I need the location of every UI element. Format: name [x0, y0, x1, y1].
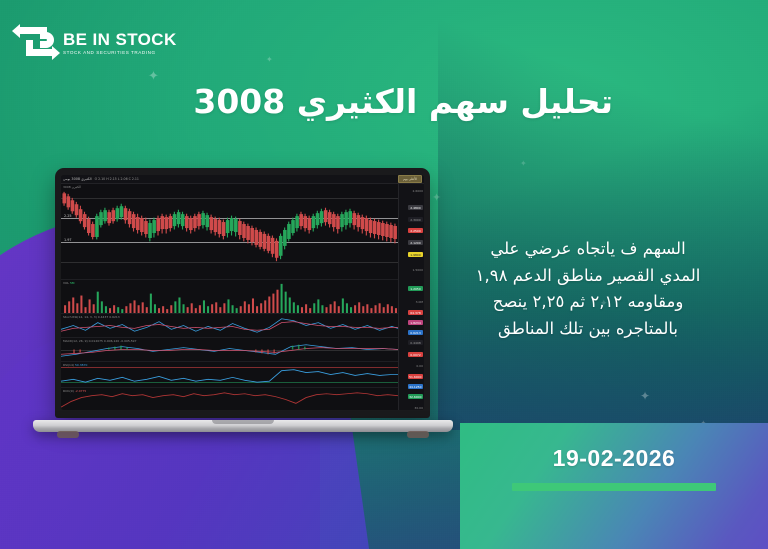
pane-price-label: الكثيري 3008 — [63, 185, 81, 189]
axis-tick: 1.5000 — [413, 268, 424, 272]
roc-series — [61, 388, 398, 410]
axis-tag: 2.4800 — [408, 205, 423, 210]
poster-canvas: ✦ ✦ ✦ ✦ ✦ ✦ ✦ BE IN STOCK STOCK AND SECU… — [0, 0, 768, 549]
description-line: المدي القصير مناطق الدعم ١,٩٨ — [438, 263, 738, 290]
analysis-description: السهم ف ياتجاه عرضي علي المدي القصير منا… — [438, 236, 738, 343]
pane-roc[interactable]: ROC(9) -2.0775 — [61, 388, 398, 410]
axis-tag-resistance: 2.2500 — [408, 228, 423, 233]
date-panel: 19-02-2026 — [460, 423, 768, 549]
brand-logo: BE IN STOCK STOCK AND SECURITIES TRADING — [20, 24, 177, 62]
pane-price[interactable]: الكثيري 3008 2.25 1.97 — [61, 184, 398, 280]
axis-tick: 0.00 — [416, 364, 423, 368]
axis-tick: 30.00 — [414, 406, 423, 410]
price-axis[interactable]: 2.6000 2.4800 2.3000 2.2500 2.1200 1.980… — [398, 184, 424, 410]
description-line: السهم ف ياتجاه عرضي علي — [438, 236, 738, 263]
date-underline-bar — [512, 483, 716, 491]
axis-tag-current: 1.9800 — [408, 252, 423, 257]
laptop-base — [33, 420, 453, 432]
pane-roc-label: ROC(9) -2.0775 — [63, 389, 86, 393]
pane-volume-label: VOL 5M — [63, 281, 75, 285]
axis-tag: 44.1250 — [408, 384, 423, 389]
pane-macd-label: MACD(12, 26, 9) 0.012075 0.006,120 -0.00… — [63, 339, 137, 343]
volume-histogram — [61, 280, 398, 313]
recycle-arrows-logo-icon — [20, 24, 54, 62]
date-text: 19-02-2026 — [460, 445, 768, 472]
chart-symbol-title: الكثيري 3008 يومي — [63, 177, 92, 181]
sparkle-icon: ✦ — [266, 56, 273, 64]
chart-header-button[interactable]: الأعلى يوم — [398, 175, 422, 183]
sparkle-icon: ✦ — [148, 70, 159, 83]
axis-tick: 3.0M — [416, 300, 423, 304]
pane-macd[interactable]: MACD(12, 26, 9) 0.012075 0.006,120 -0.00… — [61, 338, 398, 362]
laptop-screen: الكثيري 3008 يومي O 2.10 H 2.15 L 2.06 C… — [61, 175, 424, 410]
sparkle-icon: ✦ — [640, 390, 650, 402]
chart-body: الكثيري 3008 2.25 1.97 — [61, 184, 424, 410]
axis-tag: 1.8234 — [408, 320, 423, 325]
pane-rsi[interactable]: RSI(14) 50.3870 — [61, 362, 398, 388]
axis-tag: 2.3000 — [408, 217, 423, 222]
chart-header: الكثيري 3008 يومي O 2.10 H 2.15 L 2.06 C… — [61, 175, 424, 184]
description-line: بالمتاجره بين تلك المناطق — [438, 316, 738, 343]
description-line: ومقاومه ٢,١٢ ثم ٢,٢٥ ينصح — [438, 289, 738, 316]
pane-rsi-label: RSI(14) 50.3870 — [63, 363, 87, 367]
axis-tag: 0.6213 — [408, 330, 423, 335]
page-title: تحليل سهم الكثيري 3008 — [193, 82, 613, 121]
laptop-foot-right — [407, 431, 429, 438]
chart-ohlc-values: O 2.10 H 2.15 L 2.06 C 2.11 — [95, 177, 139, 181]
axis-tag: 1.2050 — [408, 286, 423, 291]
pane-stochastic-label: Stoch RSI(14, 14, 3, 3) 0.4437 0.6213 — [63, 315, 120, 319]
axis-tag: 0.0072 — [408, 352, 423, 357]
pane-volume[interactable]: VOL 5M — [61, 280, 398, 314]
axis-tag: 51.6000 — [408, 374, 423, 379]
laptop-mockup: الكثيري 3008 يومي O 2.10 H 2.15 L 2.06 C… — [33, 168, 453, 440]
axis-tick: 2.6000 — [413, 189, 424, 193]
brand-tagline: STOCK AND SECURITIES TRADING — [63, 50, 177, 55]
chart-panes: الكثيري 3008 2.25 1.97 — [61, 184, 398, 410]
axis-tag: 64.378 — [408, 310, 423, 315]
laptop-lid: الكثيري 3008 يومي O 2.10 H 2.15 L 2.06 C… — [55, 168, 430, 418]
axis-tag: 32.6000 — [408, 394, 423, 399]
axis-tag: 2.1200 — [408, 240, 423, 245]
trading-chart-app: الكثيري 3008 يومي O 2.10 H 2.15 L 2.06 C… — [61, 175, 424, 410]
rsi-series — [61, 362, 398, 387]
pane-stochastic[interactable]: Stoch RSI(14, 14, 3, 3) 0.4437 0.6213 — [61, 314, 398, 338]
axis-tag: 0.4498 — [408, 340, 423, 345]
laptop-foot-left — [57, 431, 79, 438]
candlestick-series — [61, 184, 398, 279]
brand-name: BE IN STOCK — [63, 31, 177, 49]
sparkle-icon: ✦ — [520, 160, 527, 168]
